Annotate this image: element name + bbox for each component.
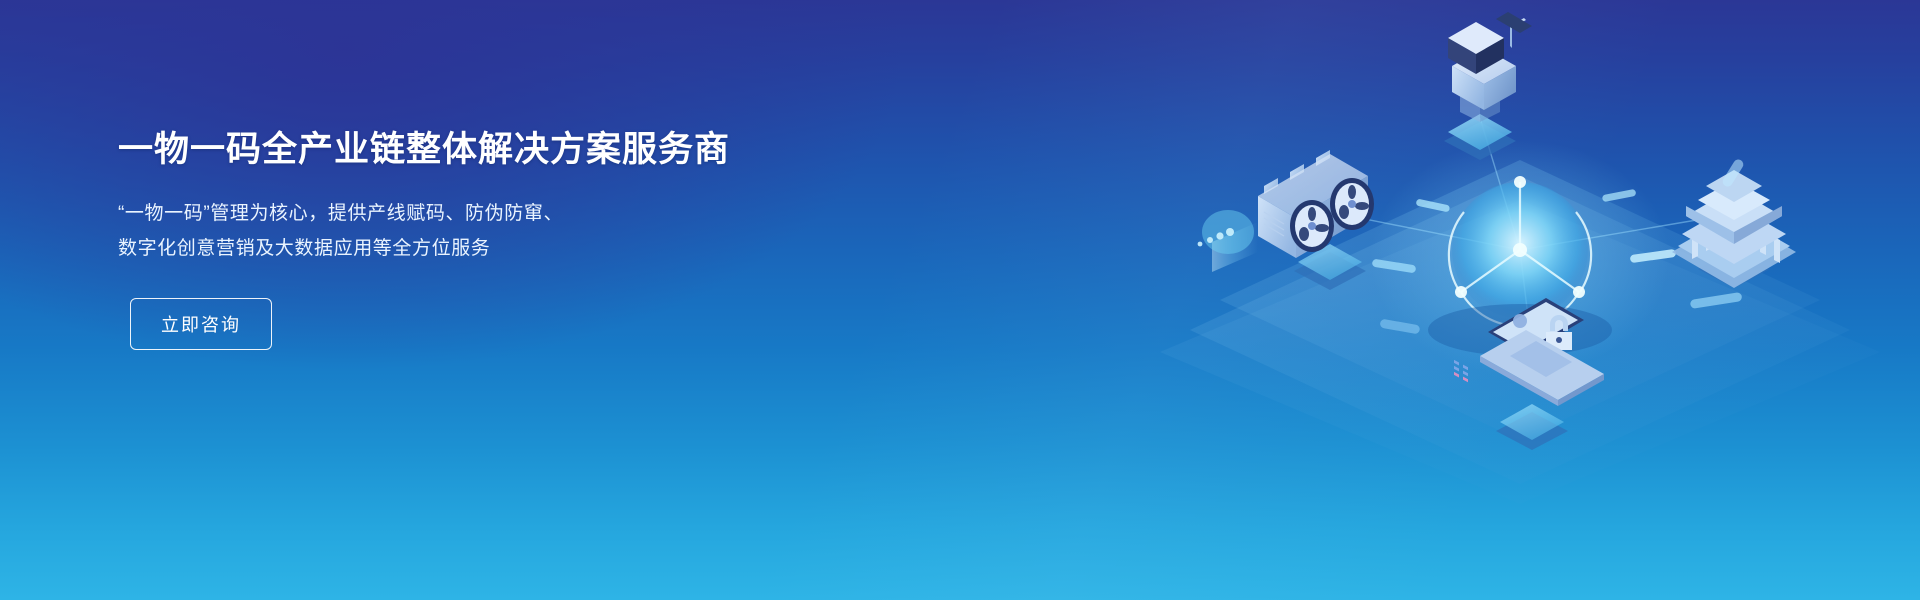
- platform-layers: [1160, 160, 1880, 504]
- hero-subtitle-line-2: 数字化创意营销及大数据应用等全方位服务: [118, 231, 678, 266]
- hero-copy: 一物一码全产业链整体解决方案服务商 “一物一码”管理为核心，提供产线赋码、防伪防…: [118, 128, 878, 350]
- laptop-security-node: [1480, 298, 1604, 600]
- hero-subtitle-line-1: “一物一码”管理为核心，提供产线赋码、防伪防窜、: [118, 196, 678, 231]
- accent-pills: [1379, 158, 1745, 335]
- link-pulses: [1372, 189, 1677, 274]
- hero-banner: 一物一码全产业链整体解决方案服务商 “一物一码”管理为核心，提供产线赋码、防伪防…: [0, 0, 1920, 600]
- server-fans-icon: [1258, 150, 1374, 258]
- data-beam: [1198, 210, 1258, 272]
- network-links: [1330, 118, 1732, 350]
- hero-subtitle: “一物一码”管理为核心，提供产线赋码、防伪防窜、 数字化创意营销及大数据应用等全…: [118, 196, 678, 266]
- laptop-icon: [1480, 298, 1604, 600]
- bank-icon: [1672, 170, 1796, 288]
- consult-now-button[interactable]: 立即咨询: [130, 298, 272, 350]
- cash-register-icon: [1448, 12, 1532, 382]
- isometric-illustration: [860, 0, 1920, 600]
- server-rack-node: [1198, 150, 1374, 290]
- fan-icon: [1290, 200, 1334, 252]
- fan-icon: [1330, 178, 1374, 230]
- page-title: 一物一码全产业链整体解决方案服务商: [118, 128, 878, 172]
- bank-building-node: [1672, 170, 1796, 288]
- pos-terminal-node: [1444, 12, 1532, 382]
- globe-sphere-node: [1370, 140, 1670, 376]
- padlock-icon: [1546, 315, 1572, 350]
